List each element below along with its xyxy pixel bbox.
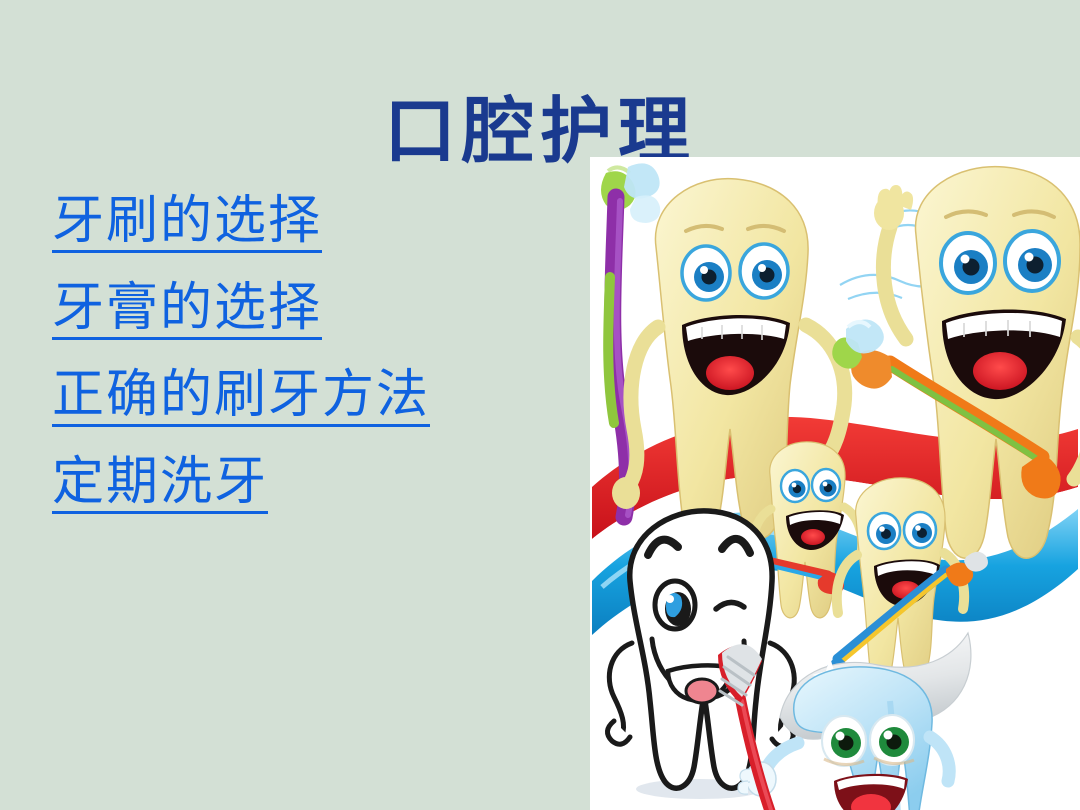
- presentation-slide: 口腔护理 牙刷的选择 牙膏的选择 正确的刷牙方法 定期洗牙: [0, 0, 1080, 810]
- illustration-panel: [590, 157, 1080, 810]
- link-label: 定期洗牙: [52, 457, 268, 514]
- link-correct-brushing-method[interactable]: 正确的刷牙方法: [48, 370, 568, 427]
- link-label: 正确的刷牙方法: [52, 370, 430, 427]
- link-label: 牙膏的选择: [52, 283, 322, 340]
- link-label: 牙刷的选择: [52, 196, 322, 253]
- link-toothpaste-selection[interactable]: 牙膏的选择: [48, 283, 568, 340]
- link-list: 牙刷的选择 牙膏的选择 正确的刷牙方法 定期洗牙: [48, 196, 568, 544]
- link-toothbrush-selection[interactable]: 牙刷的选择: [48, 196, 568, 253]
- link-regular-teeth-cleaning[interactable]: 定期洗牙: [48, 457, 568, 514]
- dental-cartoon-illustration: [590, 157, 1080, 810]
